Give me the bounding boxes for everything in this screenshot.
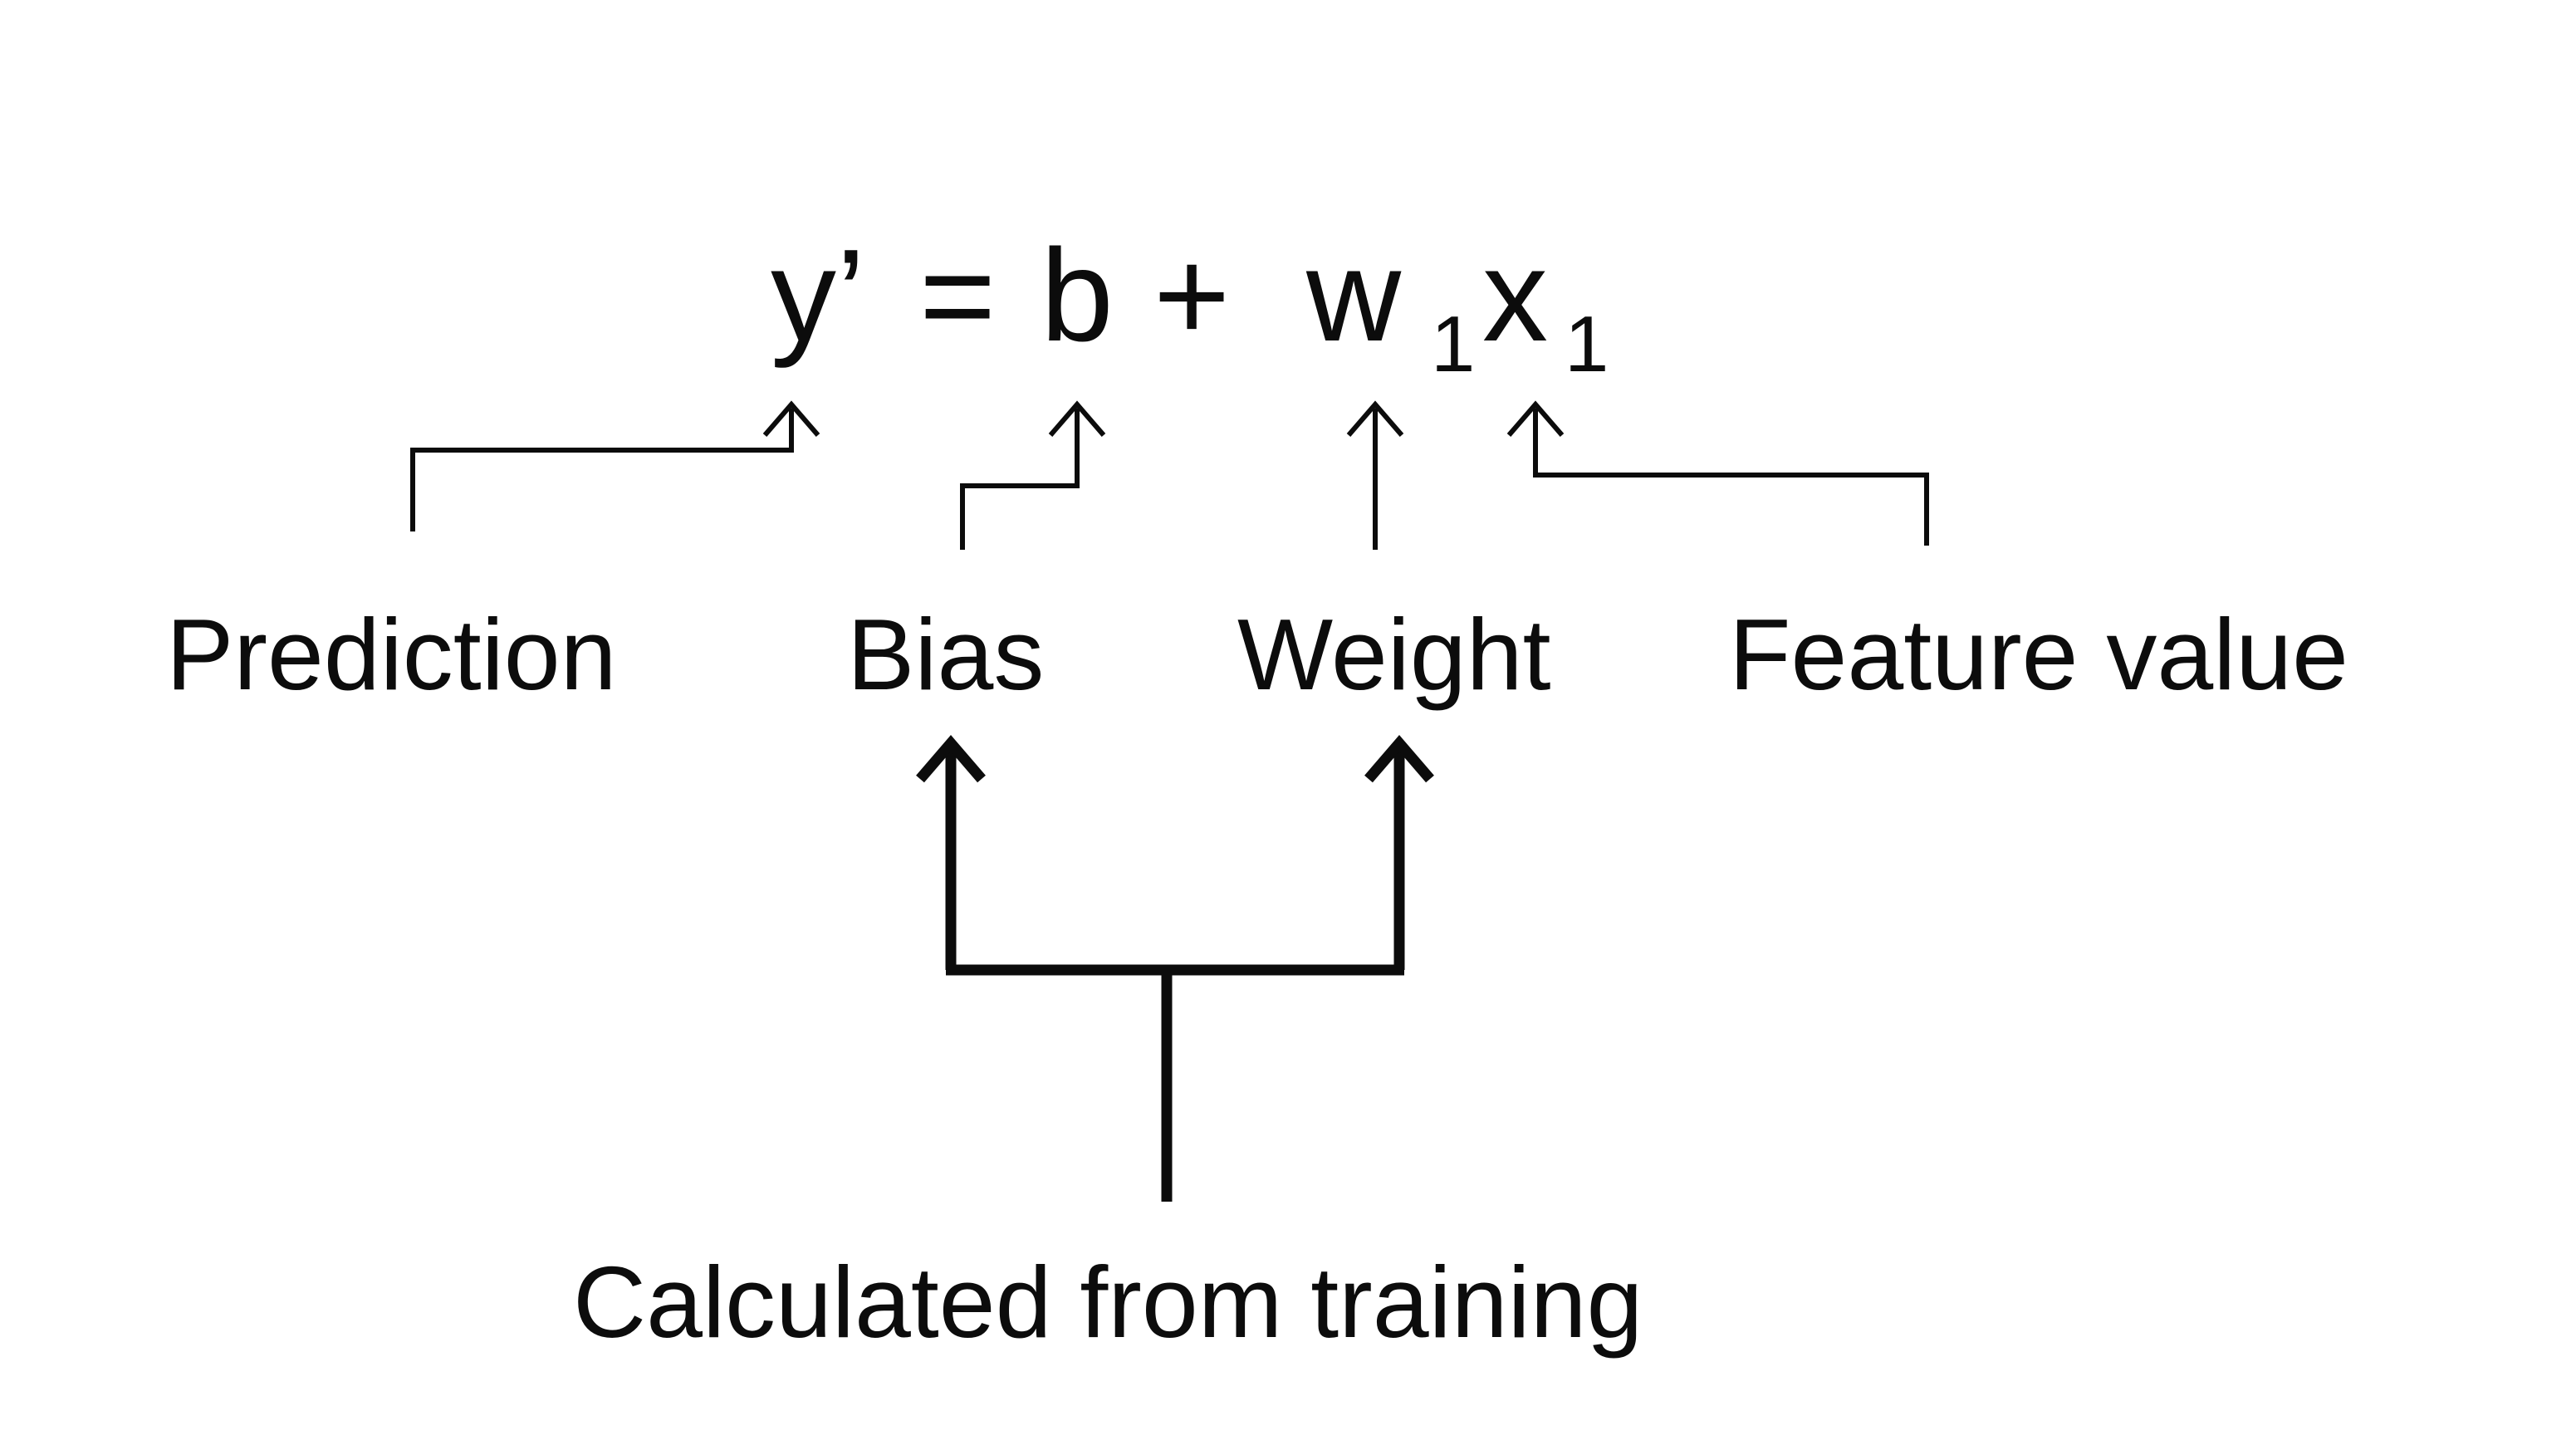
label-prediction: Prediction xyxy=(166,598,617,711)
label-feature-value: Feature value xyxy=(1729,598,2348,711)
equation-feature-subscript: 1 xyxy=(1565,300,1609,389)
equation-group: y’ = b + w 1 x 1 xyxy=(771,223,1609,389)
equation-bias-term: b xyxy=(1041,223,1114,369)
label-weight: Weight xyxy=(1237,598,1551,711)
equation-feature-term: x xyxy=(1482,223,1548,369)
bias-connector xyxy=(962,404,1104,550)
equation-plus-sign: + xyxy=(1153,223,1230,369)
training-bracket-connector xyxy=(920,743,1430,1202)
prediction-connector xyxy=(413,404,818,531)
label-calculated-from-training: Calculated from training xyxy=(573,1246,1643,1359)
label-bias: Bias xyxy=(847,598,1044,711)
weight-connector xyxy=(1349,404,1402,550)
equation-weight-subscript: 1 xyxy=(1431,300,1475,389)
label-row: Prediction Bias Weight Feature value xyxy=(166,598,2348,711)
diagram-canvas: y’ = b + w 1 x 1 xyxy=(0,0,2576,1440)
equation-y-prime: y’ xyxy=(771,223,865,369)
equation-equals-sign: = xyxy=(919,223,996,369)
linear-regression-equation-diagram: y’ = b + w 1 x 1 xyxy=(0,0,2576,1440)
feature-value-connector xyxy=(1509,404,1927,546)
equation-weight-term: w xyxy=(1305,223,1402,369)
